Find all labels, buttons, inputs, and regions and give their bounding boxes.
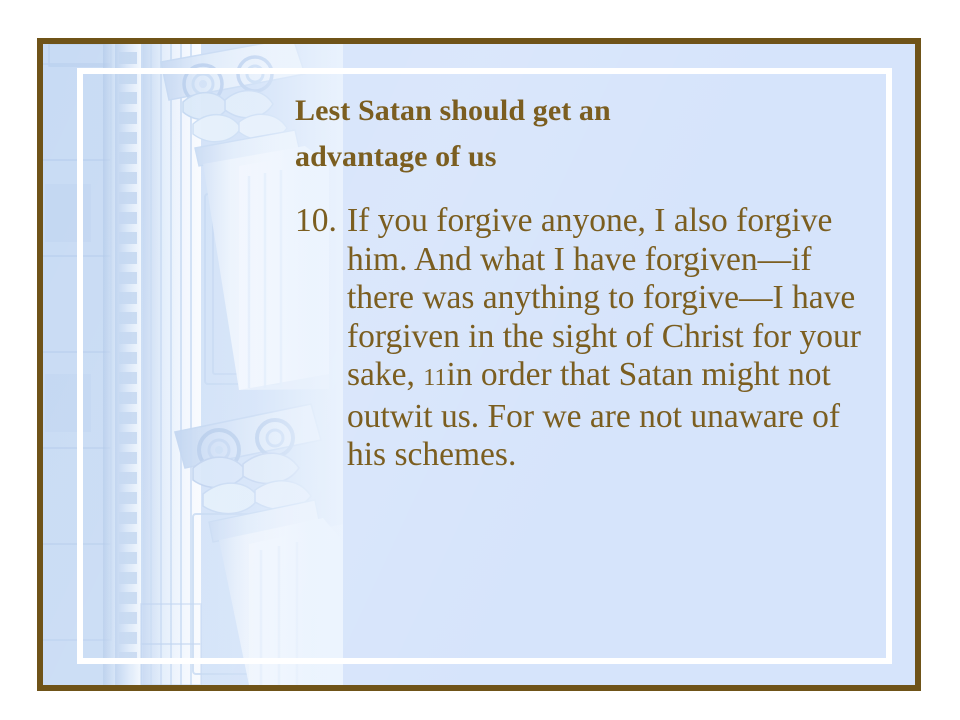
slide-body: 10. If you forgive anyone, I also forgiv… — [295, 202, 865, 475]
slide-title: Lest Satan should get an advantage of us — [295, 88, 865, 180]
slide-page: Lest Satan should get an advantage of us… — [0, 0, 960, 720]
slide-canvas: Lest Satan should get an advantage of us… — [43, 44, 915, 685]
list-item: 10. If you forgive anyone, I also forgiv… — [295, 202, 865, 475]
list-item-text: If you forgive anyone, I also forgive hi… — [347, 202, 865, 475]
verse-number-marker: 11 — [423, 365, 446, 391]
slide-outer-border: Lest Satan should get an advantage of us… — [37, 38, 921, 691]
list-item-number: 10. — [295, 202, 347, 241]
slide-content: Lest Satan should get an advantage of us… — [295, 88, 865, 475]
